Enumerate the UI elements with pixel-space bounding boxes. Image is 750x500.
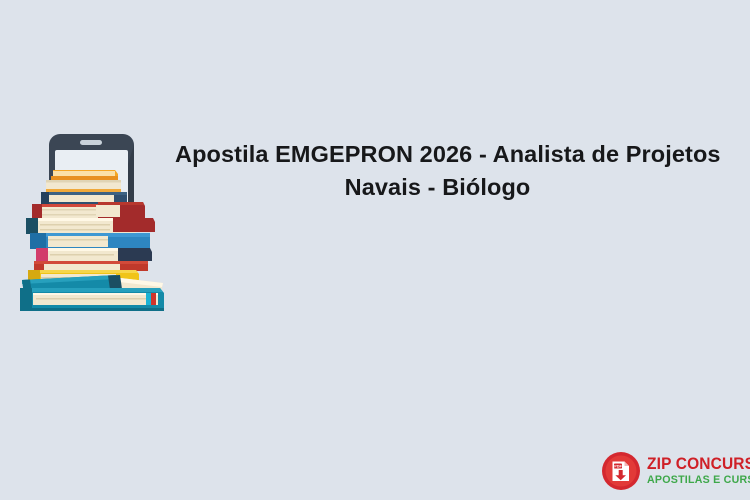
book-darkred-4b (96, 202, 145, 218)
svg-text:PDF: PDF (614, 465, 622, 469)
page-title-line-2: Navais - Biólogo (175, 171, 700, 204)
book-red-8 (34, 261, 148, 271)
promo-banner: Apostila EMGEPRON 2026 - Analista de Pro… (0, 0, 750, 500)
brand-logo[interactable]: PDF ZIP CONCURSOS APOSTILAS E CURSOS (602, 450, 744, 492)
stack-of-books-illustration (8, 128, 178, 313)
brand-logo-text: ZIP CONCURSOS APOSTILAS E CURSOS (647, 456, 750, 487)
pdf-download-icon: PDF (602, 452, 640, 490)
book-cream-7 (36, 248, 152, 262)
book-base-teal (20, 288, 164, 311)
book-blue-6 (30, 233, 150, 249)
brand-tagline: APOSTILAS E CURSOS (647, 475, 750, 486)
book-red-4 (32, 204, 103, 220)
page-title: Apostila EMGEPRON 2026 - Analista de Pro… (175, 138, 700, 204)
brand-name: ZIP CONCURSOS (647, 456, 750, 473)
page-title-line-1: Apostila EMGEPRON 2026 - Analista de Pro… (175, 138, 700, 171)
book-orange-top (51, 170, 118, 181)
book-cream-2 (46, 180, 121, 193)
book-cream-5 (26, 218, 155, 234)
